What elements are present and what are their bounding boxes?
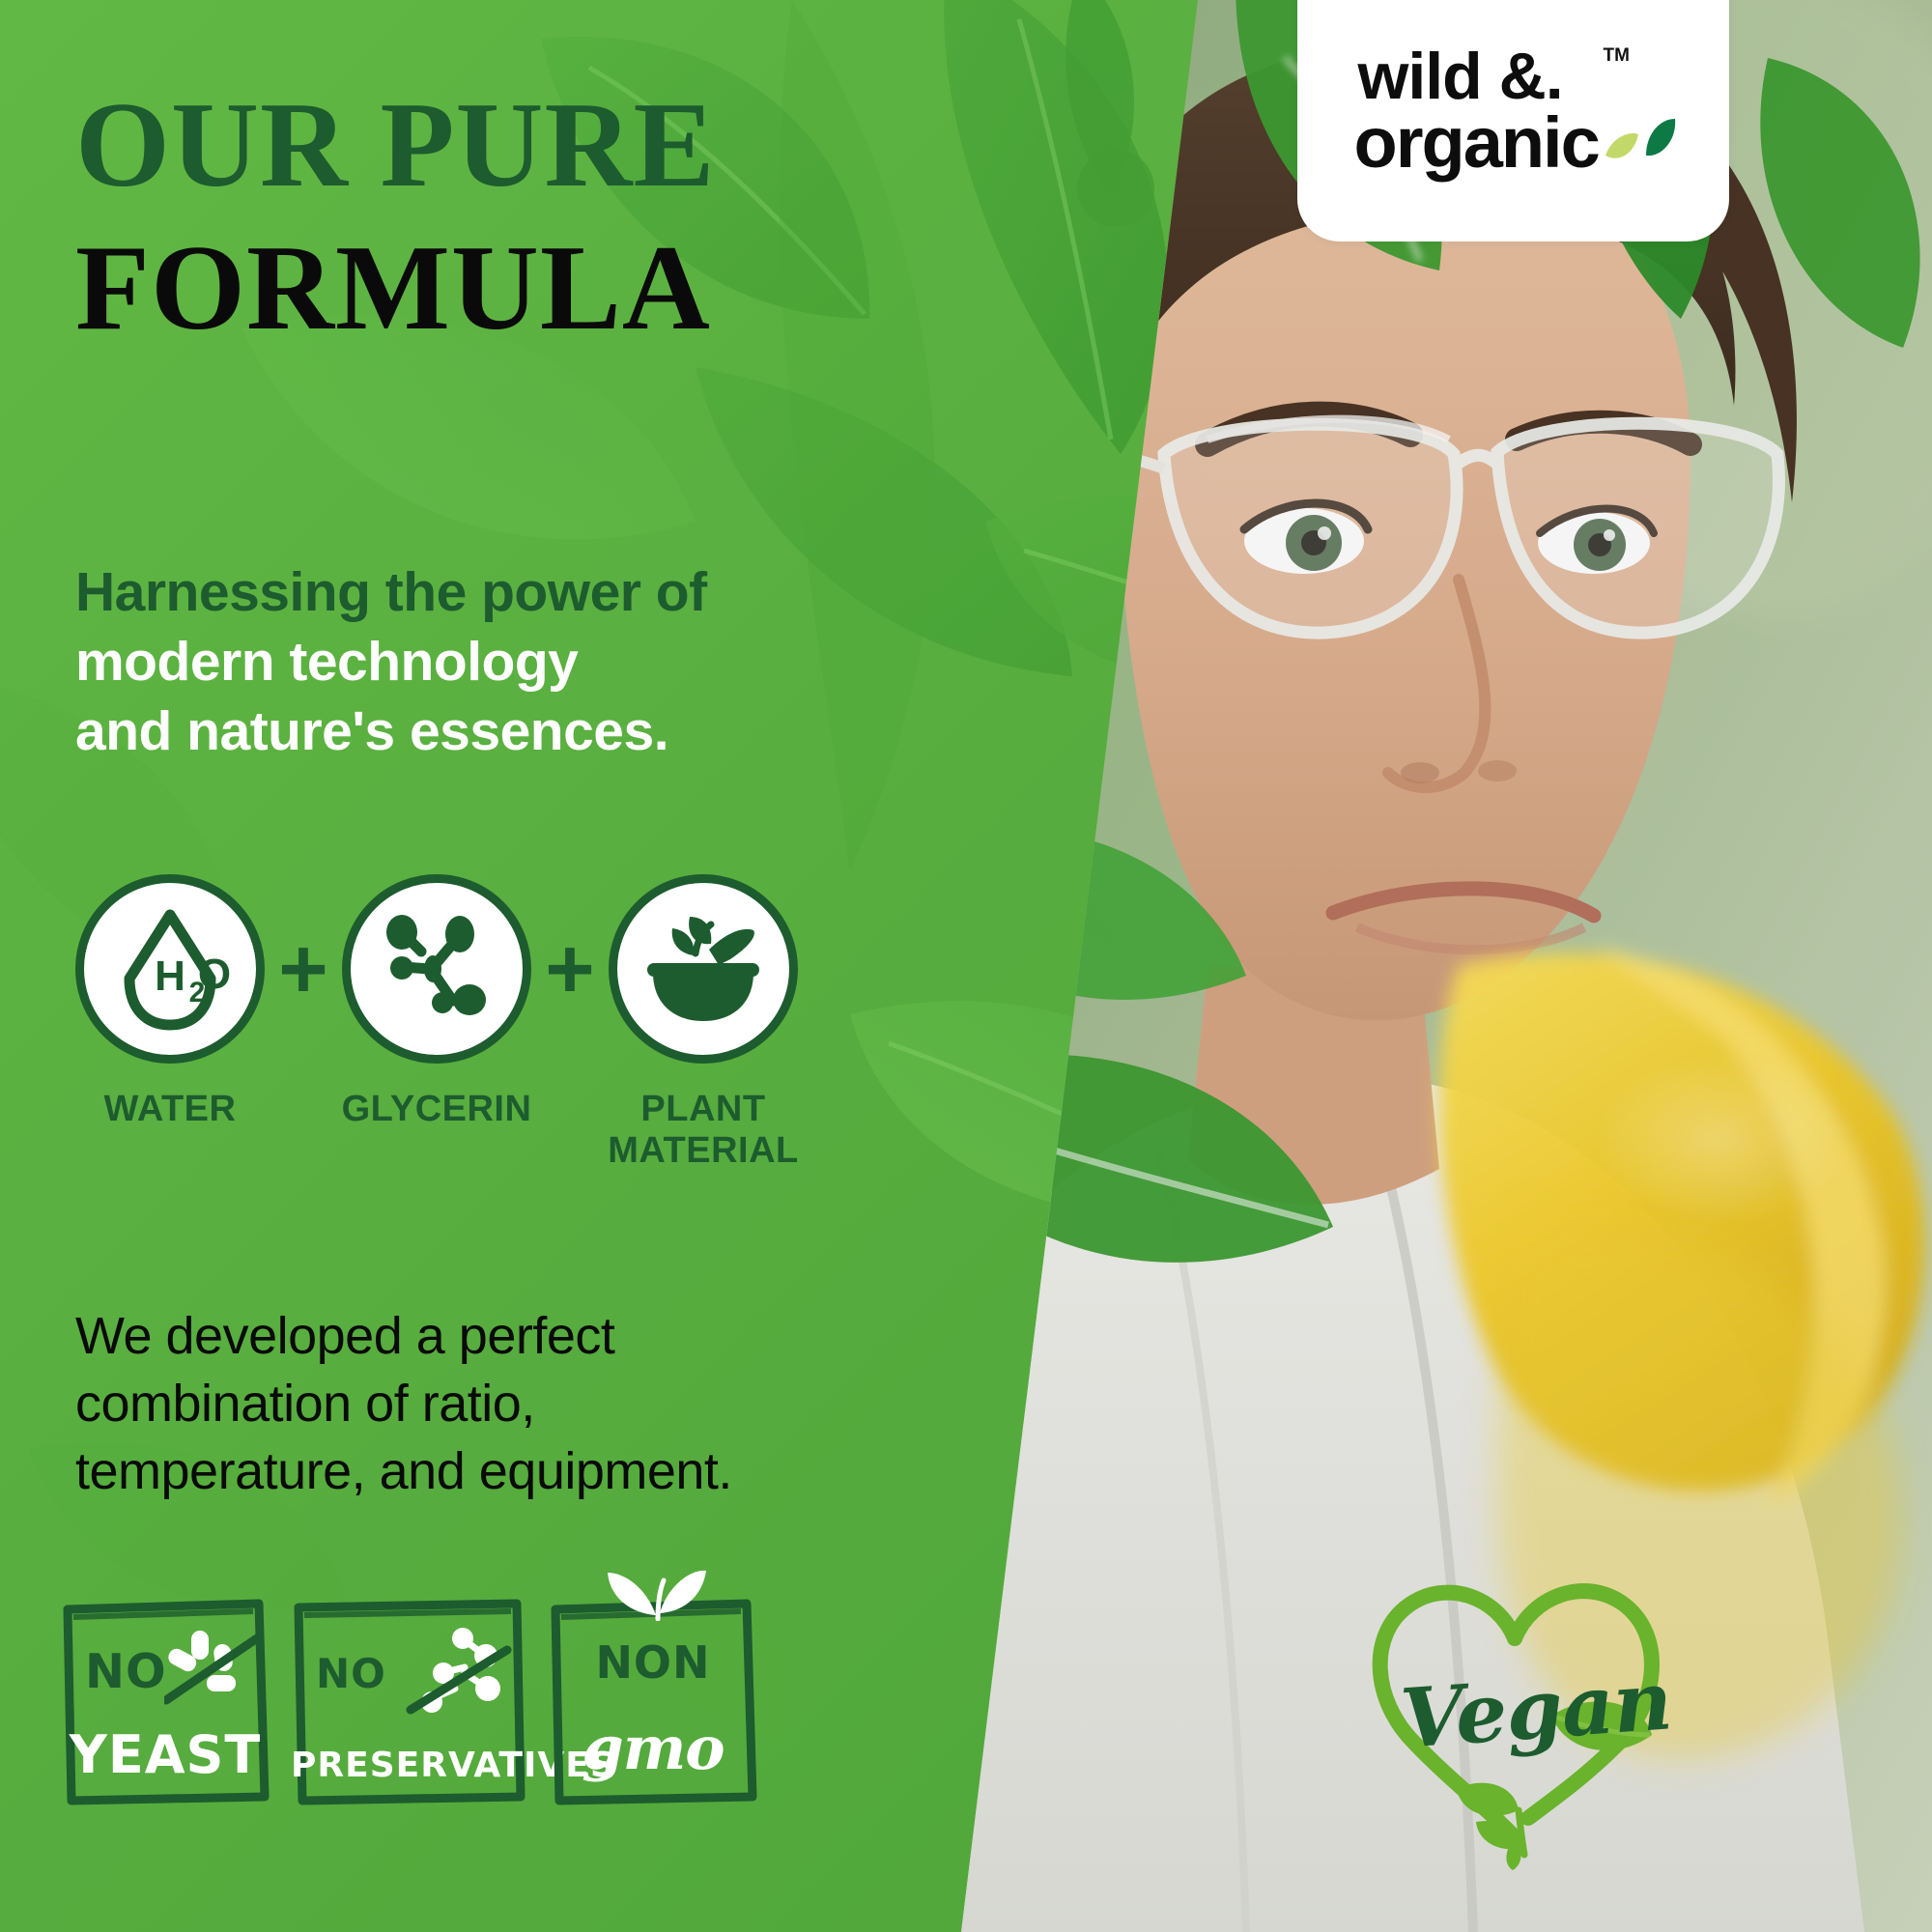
- vegan-label: Vegan: [1398, 1652, 1674, 1766]
- certification-badges: NO YEAST NO: [60, 1594, 758, 1806]
- badge-non-gmo: NON gmo: [548, 1594, 758, 1806]
- ingredient-label-line1: PLANT: [640, 1089, 765, 1129]
- yeast-cells-crossed-icon: [164, 1625, 261, 1712]
- ingredient-label: GLYCERIN: [342, 1089, 532, 1130]
- plus-separator-2: +: [531, 874, 609, 1064]
- svg-text:O: O: [198, 951, 231, 998]
- badge-prefix: NON: [548, 1636, 758, 1689]
- badge-no-yeast: NO YEAST: [60, 1594, 270, 1806]
- molecule-crossed-icon: [405, 1627, 513, 1716]
- subtitle-block: Harnessing the power of modern technolog…: [75, 558, 867, 766]
- plus-separator-1: +: [265, 874, 342, 1064]
- infographic-canvas: wild &. TM organic OUR PURE FORMULA Harn…: [0, 0, 1932, 1932]
- headline-line-1: OUR PURE: [75, 85, 945, 207]
- svg-text:H: H: [155, 952, 185, 1000]
- brand-logo: wild &. TM organic: [1354, 43, 1673, 213]
- paragraph-line-2: combination of ratio,: [75, 1370, 896, 1437]
- mortar-and-pestle-icon: [638, 903, 769, 1035]
- ingredient-label: PLANT MATERIAL: [608, 1089, 799, 1173]
- ingredient-label: WATER: [104, 1089, 237, 1130]
- subtitle-line-3: and nature's essences.: [75, 697, 867, 767]
- ingredient-label-line2: MATERIAL: [608, 1130, 799, 1171]
- body-paragraph: We developed a perfect combination of ra…: [75, 1302, 896, 1506]
- water-drop-h2o-icon: H 2 O: [102, 901, 238, 1037]
- logo-leaf-icon: [1604, 113, 1679, 169]
- logo-wordmark-line1: wild &.: [1358, 43, 1563, 109]
- leaf-sprout-icon: [604, 1544, 710, 1621]
- badge-prefix: NO: [85, 1644, 167, 1699]
- ingredient-icon-circle: H 2 O: [75, 874, 265, 1064]
- ingredient-icon-circle: [342, 874, 531, 1064]
- brand-logo-card[interactable]: wild &. TM organic: [1297, 0, 1729, 241]
- subtitle-line-1: Harnessing the power of: [75, 558, 867, 628]
- badge-prefix: NO: [316, 1650, 386, 1697]
- paragraph-line-3: temperature, and equipment.: [75, 1437, 896, 1505]
- subtitle-line-2: modern technology: [75, 628, 867, 697]
- ingredient-glycerin: GLYCERIN: [342, 874, 531, 1130]
- badge-word: PRESERVATIVES: [291, 1746, 527, 1785]
- ingredient-plant-material: PLANT MATERIAL: [609, 874, 798, 1173]
- ingredient-water: H 2 O WATER: [75, 874, 265, 1130]
- headline-line-2: FORMULA: [75, 228, 945, 350]
- molecule-icon: [375, 907, 498, 1031]
- ingredients-row: H 2 O WATER +: [75, 874, 798, 1173]
- vegan-badge: Vegan: [1352, 1546, 1681, 1874]
- ingredient-icon-circle: [609, 874, 798, 1064]
- badge-word: gmo: [548, 1713, 758, 1783]
- page-title: OUR PURE FORMULA: [75, 85, 945, 350]
- paragraph-line-1: We developed a perfect: [75, 1302, 896, 1370]
- trademark-icon: TM: [1604, 45, 1630, 67]
- logo-wordmark-line2: organic: [1354, 107, 1599, 179]
- badge-word: YEAST: [60, 1724, 270, 1785]
- badge-no-preservatives: NO PRESERVATIVES: [291, 1594, 527, 1806]
